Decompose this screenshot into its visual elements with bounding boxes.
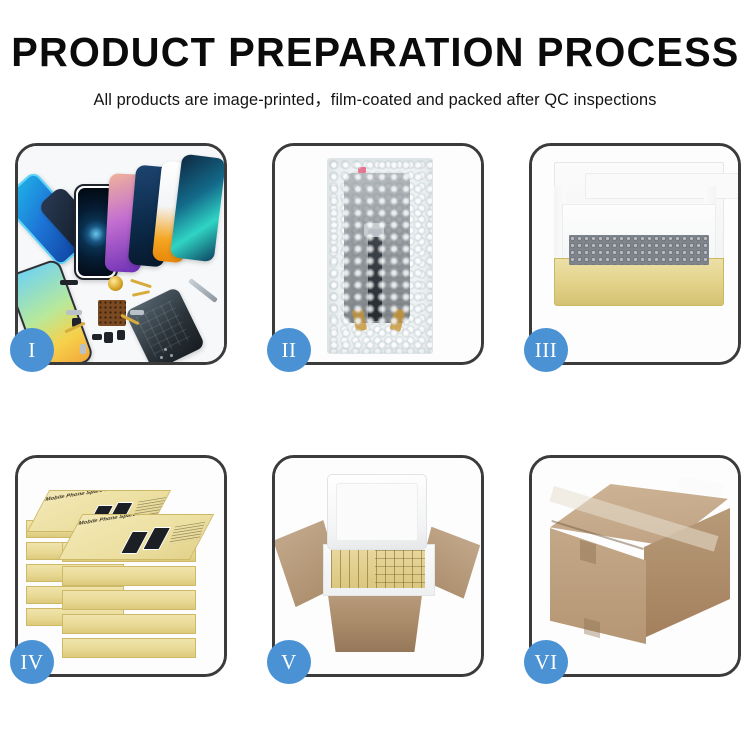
step-image-4: Mobile Phone Spare Parts Mobile Phone Sp…	[18, 458, 224, 674]
coil-part-icon	[108, 276, 123, 291]
kraft-tray-icon	[554, 258, 724, 306]
step-badge-2: II	[267, 328, 311, 372]
process-steps-grid: I II	[15, 143, 741, 677]
step-badge-6: VI	[524, 640, 568, 684]
pink-label-icon	[358, 167, 366, 173]
step-badge-5: V	[267, 640, 311, 684]
step-badge-4: IV	[10, 640, 54, 684]
page-title: PRODUCT PREPARATION PROCESS	[11, 32, 739, 73]
step-image-1	[18, 146, 224, 362]
bubble-padding-icon	[569, 235, 709, 265]
page-subtitle: All products are image-printed，film-coat…	[4, 86, 747, 110]
step-badge-3: III	[524, 328, 568, 372]
step-panel-1[interactable]: I	[15, 143, 227, 365]
step-image-5	[275, 458, 481, 674]
box-label-text-rear: Mobile Phone Spare Parts	[44, 490, 120, 503]
step-panel-2[interactable]: II	[272, 143, 484, 365]
step-panel-5[interactable]: V	[272, 455, 484, 677]
packed-boxes-icon	[331, 550, 425, 588]
box-label-text-front: Mobile Phone Spare Parts	[77, 514, 153, 527]
step-image-3	[532, 146, 738, 362]
step-badge-1: I	[10, 328, 54, 372]
step-panel-4[interactable]: Mobile Phone Spare Parts Mobile Phone Sp…	[15, 455, 227, 677]
page-header: PRODUCT PREPARATION PROCESS All products…	[0, 0, 750, 110]
kraft-box-stack-icon: Mobile Phone Spare Parts Mobile Phone Sp…	[26, 480, 222, 660]
step-image-2	[275, 146, 481, 362]
step-image-6	[532, 458, 738, 674]
step-panel-6[interactable]: VI	[529, 455, 741, 677]
foam-lid-icon	[327, 474, 427, 550]
spare-parts-group	[60, 274, 180, 362]
step-panel-3[interactable]: III	[529, 143, 741, 365]
bubble-wrap-bag-icon	[327, 158, 433, 354]
